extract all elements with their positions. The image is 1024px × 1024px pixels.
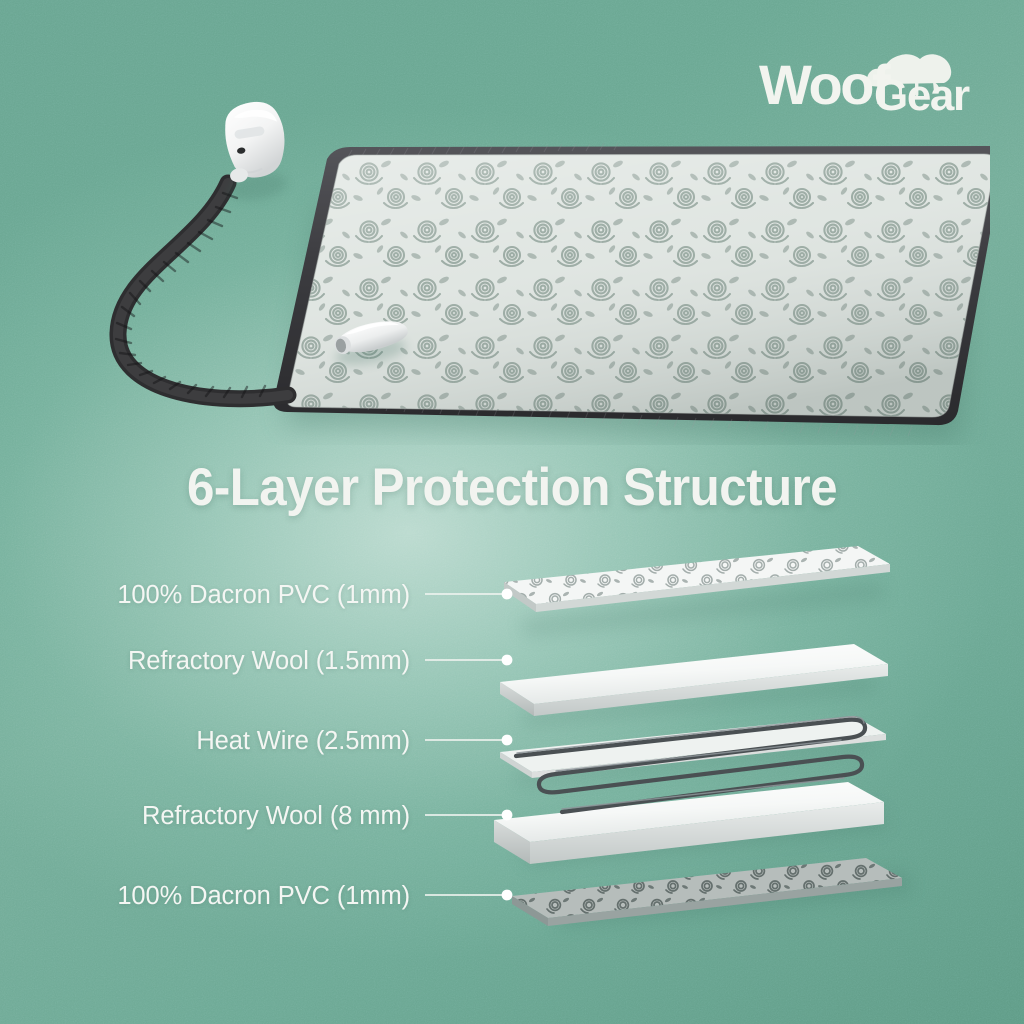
leader-dots [502, 589, 513, 901]
layer-5-dacron-pvc-bottom [512, 858, 912, 926]
layer-label-2: Refractory Wool (1.5mm) [128, 647, 410, 675]
poster-canvas: Woof Gear [0, 0, 1024, 1024]
leader-lines [425, 594, 505, 895]
layer-label-1: 100% Dacron PVC (1mm) [117, 581, 410, 609]
leader-dot-2 [502, 655, 513, 666]
page-title: 6-Layer Protection Structure [36, 458, 988, 518]
layer-label-4: Refractory Wool (8 mm) [142, 802, 410, 830]
leader-dot-4 [502, 810, 513, 821]
layer-label-5: 100% Dacron PVC (1mm) [117, 882, 410, 910]
layer-label-3: Heat Wire (2.5mm) [196, 727, 410, 755]
leader-dot-3 [502, 735, 513, 746]
layer-2-refractory-wool-1-5mm [500, 644, 888, 726]
leader-dot-5 [502, 890, 513, 901]
layer-1-dacron-pvc-top [504, 546, 890, 636]
leader-dot-1 [502, 589, 513, 600]
mat-surface [260, 135, 990, 435]
product-photo-heated-mat [60, 95, 990, 445]
power-cable [116, 183, 288, 399]
